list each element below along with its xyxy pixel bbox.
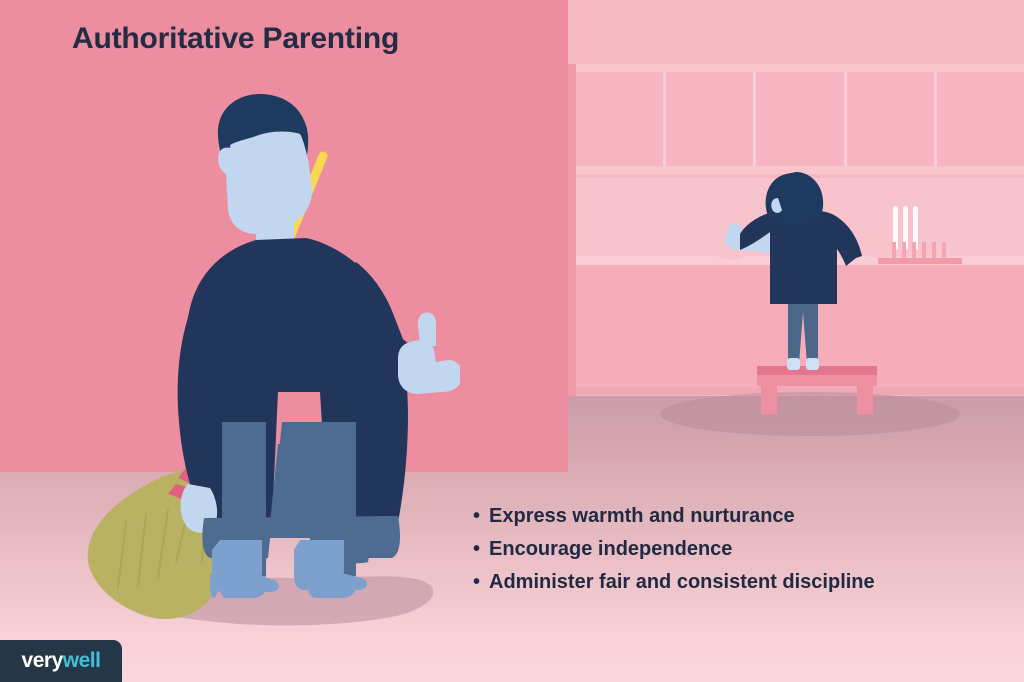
kitchen-left-edge xyxy=(568,64,576,396)
list-item: •Administer fair and consistent discipli… xyxy=(473,566,1013,599)
step-stool xyxy=(757,366,877,414)
cabinet-panel xyxy=(666,72,756,166)
logo-text-very: very xyxy=(22,649,63,673)
bullet-label: Express warmth and nurturance xyxy=(489,505,795,527)
bullet-marker-icon: • xyxy=(473,533,480,566)
cabinet-panel xyxy=(756,72,846,166)
list-item: •Encourage independence xyxy=(473,533,1013,566)
infographic-canvas: Authoritative Parenting xyxy=(0,0,1024,682)
page-title: Authoritative Parenting xyxy=(72,22,552,56)
dish-rack-base xyxy=(878,258,962,264)
bullet-marker-icon: • xyxy=(473,500,480,533)
bullet-list: •Express warmth and nurturance •Encourag… xyxy=(473,500,1013,599)
cabinet-panel xyxy=(576,72,666,166)
child-figure xyxy=(706,172,876,372)
bullet-label: Administer fair and consistent disciplin… xyxy=(489,571,875,593)
list-item: •Express warmth and nurturance xyxy=(473,500,1013,533)
bullet-label: Encourage independence xyxy=(489,538,732,560)
cabinet-panel xyxy=(847,72,937,166)
parent-feet xyxy=(212,540,382,604)
logo-text-well: well xyxy=(63,649,101,673)
cabinet-panel xyxy=(937,72,1024,166)
bullet-marker-icon: • xyxy=(473,566,480,599)
parent-figure xyxy=(160,92,460,612)
upper-cabinets xyxy=(576,72,1024,166)
verywell-logo[interactable]: verywell xyxy=(0,640,122,682)
